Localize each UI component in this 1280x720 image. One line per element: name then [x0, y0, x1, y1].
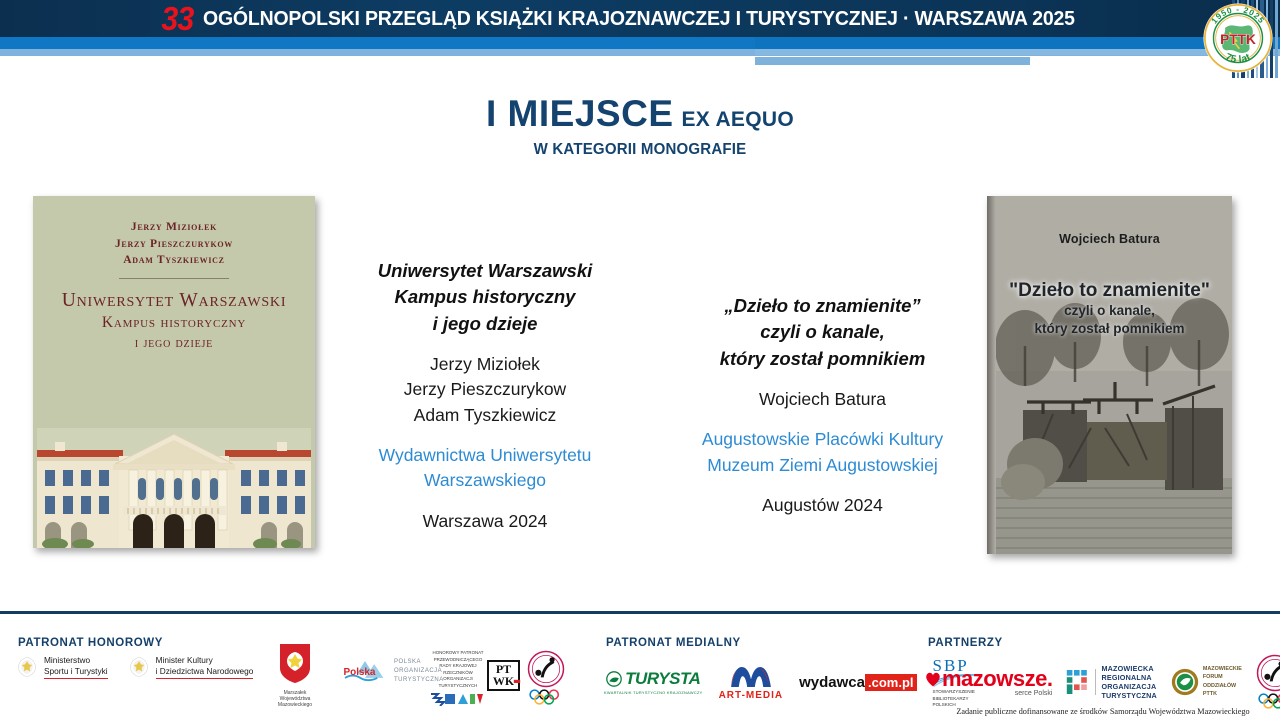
ptwk-logo: PT WK [487, 660, 520, 691]
book-title: Uniwersytet Warszawski Kampus historyczn… [355, 258, 615, 337]
ministry-label-line-2: Sportu i Turystyki [44, 666, 108, 677]
cover-title-line-2: czyli o kanale, [987, 302, 1232, 320]
zpit-logo: HONOROWY PATRONAT PRZEWODNICZĄCEGO RADY … [428, 650, 488, 711]
zpit-label: HONOROWY PATRONAT PRZEWODNICZĄCEGO RADY … [428, 650, 488, 690]
polska-brand-icon: Pol ska [342, 656, 388, 686]
cover-title-line-1: "Dzieło to znamienite" [987, 280, 1232, 302]
mrot-label-line-4: TURYSTYCZNA [1101, 691, 1156, 700]
cover-author-3: Adam Tyszkiewicz [37, 252, 311, 269]
zpit-mark-icon [430, 692, 486, 706]
polska-wordmark: Pol [344, 667, 360, 678]
forum-label-line-2: FORUM [1203, 673, 1242, 681]
cover-authors: Jerzy Miziołek Jerzy Pieszczurykow Adam … [37, 219, 311, 269]
cover-spine [987, 196, 996, 554]
book-author: Jerzy Miziołek [355, 352, 615, 377]
cover-author-2: Jerzy Pieszczurykow [37, 236, 311, 253]
book-author: Wojciech Batura [680, 387, 965, 412]
mrot-label: MAZOWIECKA REGIONALNA ORGANIZACJA TURYST… [1101, 664, 1156, 700]
book-title-line-2: Kampus historyczny [355, 284, 615, 310]
cover-divider [119, 278, 229, 279]
polish-eagle-icon [14, 654, 40, 680]
ministerstwo-sportu-i-turystyki-logo: Ministerstwo Sportu i Turystyki [14, 654, 108, 680]
mrot-logo: MAZOWIECKA REGIONALNA ORGANIZACJA TURYST… [1066, 664, 1156, 700]
zpit-label-line-3: RADY KRAJOWEJ RZECZNIKÓW [428, 663, 488, 676]
book-place-year: Warszawa 2024 [355, 509, 615, 534]
funding-note: Zadanie publiczne dofinansowane ze środk… [928, 707, 1278, 716]
book-details-right: „Dzieło to znamienite” czyli o kanale, k… [680, 293, 965, 518]
honorary-logo-row: Ministerstwo Sportu i Turystyki Minister… [14, 654, 253, 680]
turysta-wordmark: TURYSTA [625, 669, 700, 689]
mrot-mark-icon [1066, 669, 1090, 695]
footer: PATRONAT HONOROWY PATRONAT MEDIALNY PART… [0, 614, 1280, 720]
ptwk-box: PT WK [487, 660, 520, 691]
turysta-emblem-icon [606, 671, 622, 687]
ministry-label-line-1: Ministerstwo [44, 655, 108, 666]
marszalek-label: Marszałek Województwa Mazowieckiego [262, 691, 328, 708]
page-title: OGÓLNOPOLSKI PRZEGLĄD KSIĄŻKI KRAJOZNAWC… [203, 7, 1075, 31]
mrot-label-line-3: ORGANIZACJA [1101, 682, 1156, 691]
minister-kultury-logo: Minister Kultury i Dziedzictwa Narodoweg… [126, 654, 254, 680]
book-publisher-line-1: Wydawnictwa Uniwersytetu [355, 443, 615, 468]
book-title-line-1: Uniwersytet Warszawski [355, 258, 615, 284]
cover-title-line-3: i jego dzieje [37, 334, 311, 353]
olympic-seal-icon [1256, 654, 1280, 692]
award-ex-aequo: EX AEQUO [682, 108, 794, 131]
olympic-seal-icon [527, 650, 565, 688]
olympic-rings-icon [528, 689, 564, 705]
book-place-year: Augustów 2024 [680, 493, 965, 518]
book-details-left: Uniwersytet Warszawski Kampus historyczn… [355, 258, 615, 534]
mrot-label-line-2: REGIONALNA [1101, 673, 1156, 682]
book-cover-uniwersytet-warszawski: Jerzy Miziołek Jerzy Pieszczurykow Adam … [33, 196, 315, 548]
cover-title-line-1: Uniwersytet Warszawski [37, 289, 311, 313]
footer-heading-partners: PARTNERZY [928, 637, 1003, 649]
book-publisher-line-2: Warszawskiego [355, 468, 615, 493]
book-publisher-line-1: Augustowskie Placówki Kultury [680, 427, 965, 452]
polski-komitet-olimpijski-logo [527, 650, 565, 705]
cover-author-1: Jerzy Miziołek [37, 219, 311, 236]
partner-logo-row: mazowsze. serce Polski MAZOWIECKA REGION… [924, 654, 1280, 709]
book-publisher: Augustowskie Placówki Kultury Muzeum Zie… [680, 427, 965, 478]
wydawca-logo: wydawca .com.pl [799, 674, 916, 691]
cover-title-line-2: Kampus historyczny [37, 313, 311, 333]
book-publisher-line-2: Muzeum Ziemi Augustowskiej [680, 453, 965, 478]
mazowsze-tagline: serce Polski [1015, 690, 1053, 697]
mazowsze-wordmark: mazowsze. [942, 666, 1052, 692]
book-author: Jerzy Pieszczurykow [355, 377, 615, 402]
footer-heading-honorary: PATRONAT HONOROWY [18, 637, 163, 649]
heart-icon [924, 670, 942, 688]
cover-title-line-3: który został pomnikiem [987, 320, 1232, 338]
forum-label-line-4: PTTK [1203, 690, 1242, 698]
turysta-logo: TURYSTA KWARTALNIK TURYSTYCZNO KRAJOZNAW… [604, 669, 703, 695]
ministry-label-line-1: Minister Kultury [156, 655, 254, 666]
header-content: 33 OGÓLNOPOLSKI PRZEGLĄD KSIĄŻKI KRAJOZN… [0, 0, 1280, 37]
svg-text:ska: ska [359, 667, 376, 678]
book-cover-dzielo-to-znamienite: Wojciech Batura "Dzieło to znamienite" c… [987, 196, 1232, 554]
forum-seal-icon [1171, 668, 1199, 696]
book-publisher: Wydawnictwa Uniwersytetu Warszawskiego [355, 443, 615, 494]
ministry-label: Minister Kultury i Dziedzictwa Narodoweg… [156, 655, 254, 678]
book-title: „Dzieło to znamienite” czyli o kanale, k… [680, 293, 965, 372]
ministry-label-line-2: i Dziedzictwa Narodowego [156, 666, 254, 677]
book-author: Adam Tyszkiewicz [355, 403, 615, 428]
marszalek-label-line-2: Województwa Mazowieckiego [262, 697, 328, 709]
cover-author: Wojciech Batura [987, 232, 1232, 246]
cover-title: Uniwersytet Warszawski Kampus historyczn… [37, 289, 311, 352]
coat-of-arms-icon [277, 642, 313, 684]
zpit-label-line-1: HONOROWY PATRONAT [428, 650, 488, 657]
award-heading: I MIEJSCEEX AEQUO W KATEGORII MONOGRAFIE [0, 95, 1280, 159]
ministry-label: Ministerstwo Sportu i Turystyki [44, 655, 108, 678]
art-media-mark-icon [728, 664, 774, 690]
pttk-acronym: PTTK [1220, 32, 1256, 47]
polish-eagle-icon [126, 654, 152, 680]
polski-komitet-olimpijski-logo [1256, 654, 1280, 709]
pttk-anniversary-logo: 1950 - 2025 PTTK 75 lat [1202, 2, 1274, 74]
book-title-line-1: „Dzieło to znamienite” [680, 293, 965, 319]
art-media-logo: ART-MEDIA [719, 664, 784, 701]
ptwk-flag-icon [513, 679, 521, 687]
footer-heading-media: PATRONAT MEDIALNY [606, 637, 741, 649]
mazowieckie-forum-oddzialow-pttk-logo: MAZOWIECKIE FORUM ODDZIAŁÓW PTTK [1171, 665, 1242, 697]
forum-label-line-3: ODDZIAŁÓW [1203, 682, 1242, 690]
book-title-line-3: który został pomnikiem [680, 346, 965, 372]
forum-label-line-1: MAZOWIECKIE [1203, 665, 1242, 673]
mrot-label-line-1: MAZOWIECKA [1101, 664, 1156, 673]
cover-building-illustration [37, 398, 311, 548]
book-authors: Wojciech Batura [680, 387, 965, 412]
turysta-tagline: KWARTALNIK TURYSTYCZNO KRAJOZNAWCZY [604, 690, 703, 695]
zpit-label-line-2: PRZEWODNICZĄCEGO [428, 657, 488, 664]
edition-number: 33 [161, 2, 193, 35]
book-title-line-3: i jego dzieje [355, 311, 615, 337]
book-authors: Jerzy Miziołek Jerzy Pieszczurykow Adam … [355, 352, 615, 428]
ptwk-bottom: WK [493, 676, 514, 687]
mazowsze-logo: mazowsze. serce Polski [924, 666, 1052, 697]
forum-label: MAZOWIECKIE FORUM ODDZIAŁÓW PTTK [1203, 665, 1242, 697]
art-media-wordmark: ART-MEDIA [719, 690, 784, 701]
marszalek-mazowieckiego-logo: Marszałek Województwa Mazowieckiego [262, 642, 328, 708]
cover-title: "Dzieło to znamienite" czyli o kanale, k… [987, 280, 1232, 338]
wydawca-suffix: .com.pl [865, 674, 917, 691]
wydawca-wordmark: wydawca [799, 674, 865, 691]
award-place: I MIEJSCE [486, 95, 674, 132]
award-category: W KATEGORII MONOGRAFIE [19, 141, 1261, 159]
book-title-line-2: czyli o kanale, [680, 319, 965, 345]
zpit-label-line-4: ORGANIZACJI TURYSTYCZNYCH [428, 676, 488, 689]
